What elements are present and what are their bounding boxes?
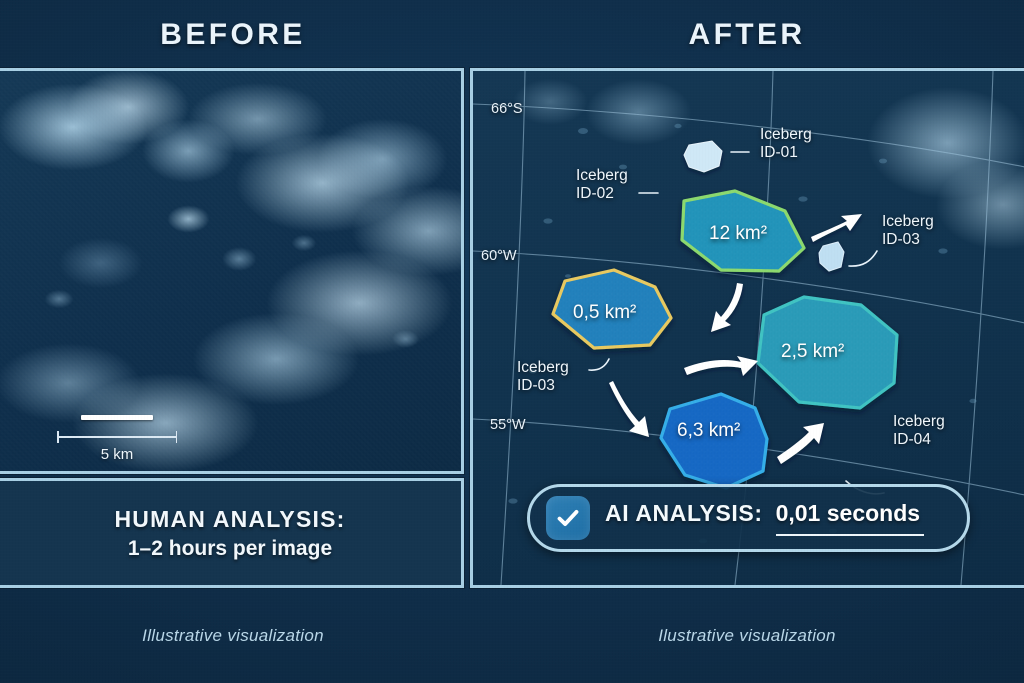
iceberg-label-line1: Iceberg	[517, 359, 569, 377]
area-label-05km: 0,5 km²	[573, 302, 636, 324]
ai-analysis-underline	[776, 534, 924, 537]
iceberg-label-id-03-right: Iceberg ID-03	[882, 213, 934, 249]
grid-label-55w: 55°W	[490, 417, 526, 433]
check-icon	[546, 496, 590, 540]
scale-bar-label: 5 km	[57, 446, 177, 463]
iceberg-label-line2: ID-04	[893, 431, 945, 449]
infographic-root: BEFORE AFTER 5 km HUMAN ANALYSIS: 1–2 ho…	[0, 0, 1024, 683]
heading-after: AFTER	[470, 18, 1024, 52]
ai-analysis-value: 0,01 seconds	[776, 500, 920, 526]
area-label-63km: 6,3 km²	[677, 420, 740, 442]
iceberg-label-line1: Iceberg	[882, 213, 934, 231]
iceberg-shape-id-01	[684, 141, 722, 172]
grid-label-66s: 66°S	[491, 101, 523, 117]
iceberg-label-line1: Iceberg	[576, 167, 628, 185]
iceberg-label-line2: ID-03	[882, 231, 934, 249]
satellite-image-cloudy	[0, 71, 461, 471]
scale-bar-segment	[81, 415, 153, 420]
scale-bar-line	[57, 436, 177, 438]
ai-analysis-text: AI ANALYSIS: 0,01 seconds	[605, 500, 920, 536]
iceberg-label-line2: ID-03	[517, 377, 569, 395]
iceberg-label-id-03-left: Iceberg ID-03	[517, 359, 569, 395]
area-label-25km: 2,5 km²	[781, 341, 844, 363]
iceberg-shape-id-03-right	[819, 242, 844, 271]
iceberg-label-line1: Iceberg	[893, 413, 945, 431]
grid-label-60w: 60°W	[481, 248, 517, 264]
human-analysis-panel: HUMAN ANALYSIS: 1–2 hours per image	[0, 478, 464, 588]
caption-left: Illustrative visualization	[0, 626, 466, 646]
before-image-panel: 5 km	[0, 68, 464, 474]
human-analysis-subtitle: 1–2 hours per image	[128, 537, 332, 561]
ai-analysis-label: AI ANALYSIS:	[605, 500, 763, 527]
area-label-12km: 12 km²	[709, 223, 767, 245]
iceberg-label-line2: ID-01	[760, 144, 812, 162]
human-analysis-content: HUMAN ANALYSIS: 1–2 hours per image	[0, 481, 461, 585]
scale-bar: 5 km	[57, 415, 177, 463]
caption-right: Ilustrative visualization	[470, 626, 1024, 646]
human-analysis-title: HUMAN ANALYSIS:	[115, 506, 346, 533]
iceberg-label-id-04: Iceberg ID-04	[893, 413, 945, 449]
scale-bar-cap-left	[57, 431, 59, 443]
iceberg-label-line1: Iceberg	[760, 126, 812, 144]
ai-analysis-badge: AI ANALYSIS: 0,01 seconds	[527, 484, 970, 552]
ai-analysis-value-wrap: 0,01 seconds	[776, 500, 920, 536]
heading-before: BEFORE	[0, 18, 466, 52]
iceberg-label-id-01: Iceberg ID-01	[760, 126, 812, 162]
iceberg-label-id-02: Iceberg ID-02	[576, 167, 628, 203]
iceberg-label-line2: ID-02	[576, 185, 628, 203]
scale-bar-ruler	[57, 431, 177, 443]
scale-bar-cap-right	[176, 431, 178, 443]
